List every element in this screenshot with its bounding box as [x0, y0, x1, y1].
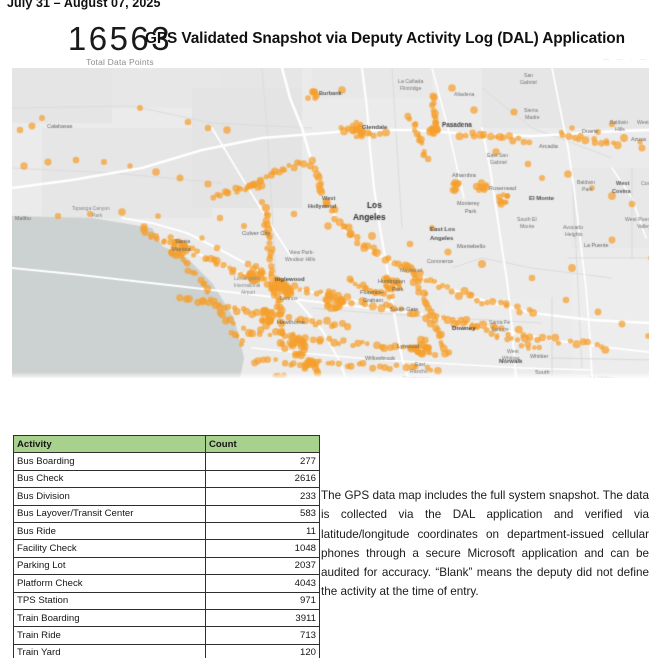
report-page: July 31 – August 07, 2025 16563 Total Da…: [0, 0, 667, 658]
cell-activity: Train Ride: [14, 627, 206, 644]
table-header-row: Activity Count: [14, 436, 320, 453]
cell-activity: Platform Check: [14, 575, 206, 592]
cell-count: 3911: [206, 609, 320, 626]
cell-activity: Facility Check: [14, 540, 206, 557]
table-row: Parking Lot2037: [14, 557, 320, 574]
column-header-activity: Activity: [14, 436, 206, 453]
table-body: Bus Boarding277Bus Check2616Bus Division…: [14, 453, 320, 658]
table-row: Platform Check4043: [14, 575, 320, 592]
table-row: Train Ride713: [14, 627, 320, 644]
table-header: Activity Count: [14, 436, 320, 453]
gps-activity-map[interactable]: [12, 68, 649, 378]
cell-count: 1048: [206, 540, 320, 557]
cell-activity: Train Yard: [14, 644, 206, 658]
cell-activity: Bus Boarding: [14, 453, 206, 470]
cell-count: 971: [206, 592, 320, 609]
cell-activity: Parking Lot: [14, 557, 206, 574]
cell-count: 583: [206, 505, 320, 522]
cell-activity: Bus Check: [14, 470, 206, 487]
cell-count: 4043: [206, 575, 320, 592]
description-paragraph: The GPS data map includes the full syste…: [321, 486, 649, 602]
map-widget-label: — — · —: [603, 57, 649, 63]
cell-activity: Bus Layover/Transit Center: [14, 505, 206, 522]
cell-activity: Bus Ride: [14, 522, 206, 539]
kpi-caption: Total Data Points: [55, 57, 185, 68]
table-row: Bus Layover/Transit Center583: [14, 505, 320, 522]
cell-count: 11: [206, 522, 320, 539]
cell-activity: Train Boarding: [14, 609, 206, 626]
cell-count: 233: [206, 488, 320, 505]
cell-activity: Bus Division: [14, 488, 206, 505]
cell-count: 2616: [206, 470, 320, 487]
title-band: 16563 Total Data Points GPS Validated Sn…: [0, 22, 667, 70]
activity-count-table: Activity Count Bus Boarding277Bus Check2…: [13, 435, 320, 658]
table-row: Facility Check1048: [14, 540, 320, 557]
cell-count: 120: [206, 644, 320, 658]
cell-activity: TPS Station: [14, 592, 206, 609]
cell-count: 2037: [206, 557, 320, 574]
cell-count: 277: [206, 453, 320, 470]
table-row: Bus Division233: [14, 488, 320, 505]
table-row: Train Boarding3911: [14, 609, 320, 626]
table-row: Bus Check2616: [14, 470, 320, 487]
date-range-header: July 31 – August 07, 2025: [7, 0, 161, 10]
column-header-count: Count: [206, 436, 320, 453]
table-row: Bus Boarding277: [14, 453, 320, 470]
map-canvas[interactable]: [12, 68, 649, 378]
table-row: Train Yard120: [14, 644, 320, 658]
table-row: TPS Station971: [14, 592, 320, 609]
table-row: Bus Ride11: [14, 522, 320, 539]
cell-count: 713: [206, 627, 320, 644]
page-title: GPS Validated Snapshot via Deputy Activi…: [145, 30, 625, 48]
